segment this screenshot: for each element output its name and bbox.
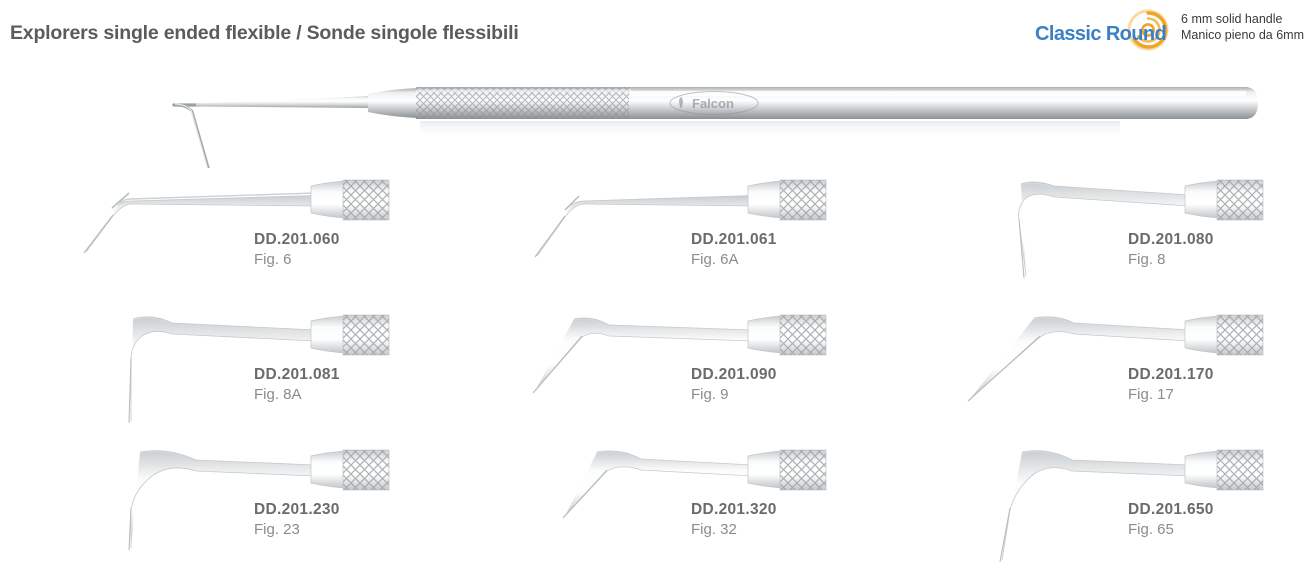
product-label: DD.201.650 Fig. 65	[1128, 500, 1288, 540]
product-label: DD.201.230 Fig. 23	[254, 500, 414, 540]
product-figure: Fig. 23	[254, 520, 414, 540]
product-label: DD.201.060 Fig. 6	[254, 230, 414, 270]
handle-note: 6 mm solid handle Manico pieno da 6mm	[1181, 11, 1304, 43]
product-label: DD.201.080 Fig. 8	[1128, 230, 1288, 270]
product-cell[interactable]: DD.201.650 Fig. 65	[874, 438, 1310, 573]
product-cell[interactable]: DD.201.170 Fig. 17	[874, 303, 1310, 438]
product-cell[interactable]: DD.201.080 Fig. 8	[874, 168, 1310, 303]
product-row: DD.201.060 Fig. 6 DD.201.061 Fig. 6A	[0, 168, 1310, 303]
product-figure: Fig. 6A	[691, 250, 851, 270]
brand-name: Classic Round	[1035, 23, 1166, 46]
product-cell[interactable]: DD.201.230 Fig. 23	[0, 438, 437, 573]
product-code: DD.201.060	[254, 230, 414, 250]
product-row: DD.201.081 Fig. 8A DD.201.090 Fig. 9	[0, 303, 1310, 438]
product-code: DD.201.320	[691, 500, 851, 520]
product-code: DD.201.170	[1128, 365, 1288, 385]
product-label: DD.201.320 Fig. 32	[691, 500, 851, 540]
product-code: DD.201.080	[1128, 230, 1288, 250]
product-label: DD.201.170 Fig. 17	[1128, 365, 1288, 405]
classic-round-logo: Classic Round	[1033, 7, 1173, 55]
product-figure: Fig. 32	[691, 520, 851, 540]
product-row: DD.201.230 Fig. 23 DD.201.320 Fig. 32	[0, 438, 1310, 573]
product-figure: Fig. 8A	[254, 385, 414, 405]
product-cell[interactable]: DD.201.090 Fig. 9	[437, 303, 874, 438]
brand-block: Classic Round 6 mm solid handle Manico p…	[1033, 5, 1304, 55]
product-figure: Fig. 9	[691, 385, 851, 405]
product-cell[interactable]: DD.201.060 Fig. 6	[0, 168, 437, 303]
product-figure: Fig. 17	[1128, 385, 1288, 405]
product-figure: Fig. 65	[1128, 520, 1288, 540]
product-cell[interactable]: DD.201.081 Fig. 8A	[0, 303, 437, 438]
product-code: DD.201.650	[1128, 500, 1288, 520]
handle-note-it: Manico pieno da 6mm	[1181, 27, 1304, 43]
hero-instrument-illustration: Falcon	[0, 58, 1310, 168]
product-figure: Fig. 8	[1128, 250, 1288, 270]
product-label: DD.201.090 Fig. 9	[691, 365, 851, 405]
svg-text:Falcon: Falcon	[692, 96, 734, 111]
product-code: DD.201.090	[691, 365, 851, 385]
page-header: Explorers single ended flexible / Sonde …	[0, 0, 1310, 62]
product-label: DD.201.061 Fig. 6A	[691, 230, 851, 270]
product-label: DD.201.081 Fig. 8A	[254, 365, 414, 405]
product-code: DD.201.081	[254, 365, 414, 385]
product-grid: DD.201.060 Fig. 6 DD.201.061 Fig. 6A	[0, 168, 1310, 573]
product-code: DD.201.230	[254, 500, 414, 520]
product-code: DD.201.061	[691, 230, 851, 250]
handle-note-en: 6 mm solid handle	[1181, 11, 1304, 27]
product-cell[interactable]: DD.201.061 Fig. 6A	[437, 168, 874, 303]
page-title: Explorers single ended flexible / Sonde …	[10, 22, 519, 45]
hero-instrument: Falcon	[0, 58, 1310, 168]
product-figure: Fig. 6	[254, 250, 414, 270]
product-cell[interactable]: DD.201.320 Fig. 32	[437, 438, 874, 573]
